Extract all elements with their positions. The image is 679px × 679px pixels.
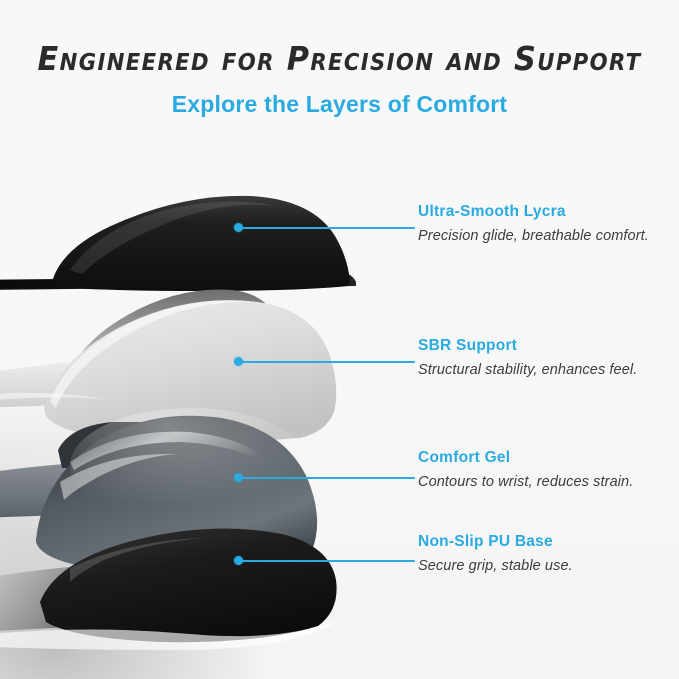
callout-text-non-slip-pu-base: Non-Slip PU Base Secure grip, stable use… (418, 533, 666, 576)
callout-line-ultra-smooth-lycra (241, 227, 415, 229)
callout-line-sbr-support (241, 361, 415, 363)
product-layers-infographic: Engineered for Precision and Support Exp… (0, 0, 679, 679)
lycra-cover-layer (0, 196, 356, 291)
callout-title-non-slip-pu-base: Non-Slip PU Base (418, 533, 666, 552)
callout-description-non-slip-pu-base: Secure grip, stable use. (418, 552, 666, 576)
callout-title-comfort-gel: Comfort Gel (418, 449, 666, 468)
callout-description-sbr-support: Structural stability, enhances feel. (418, 356, 666, 380)
callout-title-ultra-smooth-lycra: Ultra-Smooth Lycra (418, 203, 666, 222)
callout-text-comfort-gel: Comfort Gel Contours to wrist, reduces s… (418, 449, 666, 492)
page-subtitle: Explore the Layers of Comfort (0, 77, 679, 118)
callout-line-non-slip-pu-base (241, 560, 415, 562)
callout-title-sbr-support: SBR Support (418, 337, 666, 356)
header: Engineered for Precision and Support Exp… (0, 0, 679, 118)
callout-text-ultra-smooth-lycra: Ultra-Smooth Lycra Precision glide, brea… (418, 203, 666, 246)
callout-description-comfort-gel: Contours to wrist, reduces strain. (418, 468, 666, 492)
callout-text-sbr-support: SBR Support Structural stability, enhanc… (418, 337, 666, 380)
callout-description-ultra-smooth-lycra: Precision glide, breathable comfort. (418, 222, 666, 246)
page-title: Engineered for Precision and Support (27, 0, 652, 77)
callout-line-comfort-gel (241, 477, 415, 479)
product-exploded-view (0, 150, 420, 650)
